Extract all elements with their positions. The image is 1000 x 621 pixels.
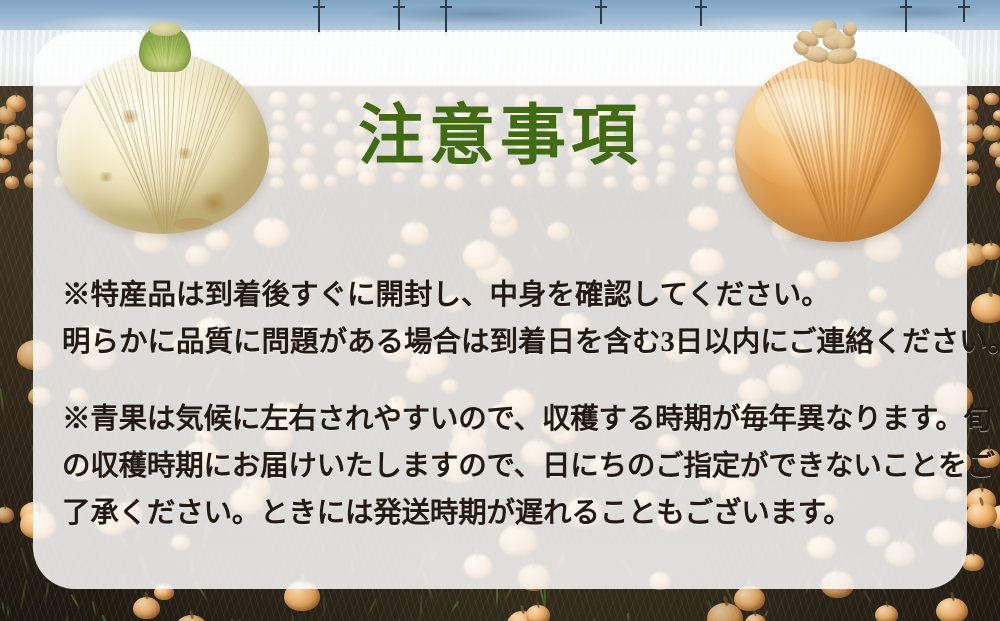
field-onion	[971, 293, 1000, 322]
notice-paragraph-1: ※特産品は到着後すぐに開封し、中身を確認してください。 明らかに品質に問題がある…	[62, 272, 948, 366]
notice-line: ※特産品は到着後すぐに開封し、中身を確認してください。	[62, 272, 948, 319]
utility-pole	[700, 0, 702, 26]
utility-pole	[398, 0, 400, 30]
golden-onion-highlight	[755, 78, 851, 142]
white-onion-blotch	[175, 148, 195, 159]
golden-onion-bulb	[735, 56, 941, 242]
white-onion-blotch	[197, 192, 231, 214]
field-onion	[526, 605, 550, 621]
notice-line: 明らかに品質に問題がある場合は到着日を含む3日以内にご連絡ください。	[62, 319, 948, 366]
white-onion-vein	[63, 52, 157, 223]
field-onion	[5, 176, 19, 188]
field-onion	[966, 502, 997, 528]
notice-banner: 注意事項 ※特産品は到着後すぐに開封し、中身を確認してください。 明らかに品質に…	[0, 0, 1000, 621]
white-onion-root	[173, 218, 213, 230]
field-onion	[875, 605, 898, 621]
white-onion-blotch	[117, 110, 143, 123]
utility-pole	[318, 0, 320, 34]
golden-onion-photo	[735, 18, 941, 242]
white-onion-photo	[57, 26, 269, 234]
white-onion-bulb	[57, 52, 269, 234]
golden-onion-neck-piece	[826, 46, 858, 65]
notice-paragraph-2: ※青果は気候に左右されやすいので、収穫する時期が毎年異なります。旬 の収穫時期に…	[62, 396, 948, 537]
notice-line: 了承ください。ときには発送時期が遅れることもございます。	[62, 490, 948, 537]
white-onion-neck-cap	[149, 22, 181, 36]
utility-pole	[445, 0, 447, 36]
utility-pole	[963, 0, 965, 22]
utility-pole	[600, 0, 602, 24]
golden-onion-neck	[793, 18, 865, 72]
field-onion	[936, 598, 967, 621]
notice-line: の収穫時期にお届けいたしますので、日にちのご指定ができないことをご	[62, 443, 948, 490]
field-onion	[981, 243, 1000, 260]
field-onion	[133, 597, 160, 619]
notice-line: ※青果は気候に左右されやすいので、収穫する時期が毎年異なります。旬	[62, 396, 948, 443]
white-onion-blotch	[97, 172, 115, 182]
